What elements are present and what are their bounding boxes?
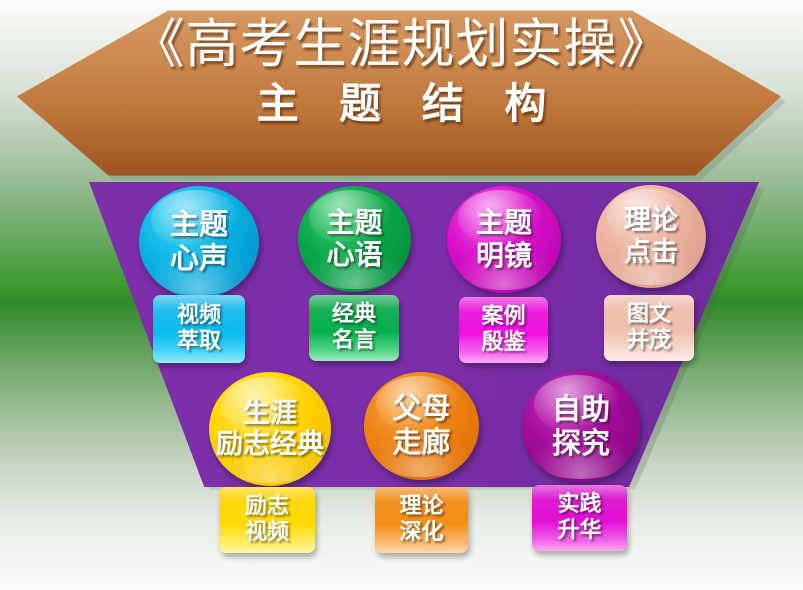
circle-label-line1: 父母 xyxy=(392,392,450,426)
chip-shipin-cuiqu[interactable]: 视频 萃取 xyxy=(153,295,245,363)
circle-label-line1: 主题 xyxy=(476,207,532,239)
circle-lilun-dianji[interactable]: 理论 点击 xyxy=(596,185,706,288)
chip-label-line2: 名言 xyxy=(332,328,376,354)
circle-zizhu-tanjiu[interactable]: 自助 探究 xyxy=(522,371,640,482)
title-banner-hexagon xyxy=(17,8,781,178)
chip-label-line1: 案例 xyxy=(481,304,525,330)
chip-label-line2: 殷鉴 xyxy=(481,330,525,356)
chip-label-line1: 经典 xyxy=(332,302,376,328)
circle-label-line2: 明镜 xyxy=(476,240,532,272)
circle-label-line2: 点击 xyxy=(624,237,678,268)
chip-label-line2: 深化 xyxy=(399,520,443,546)
chip-label-line1: 实践 xyxy=(557,492,601,518)
circle-label-line2: 励志经典 xyxy=(216,429,324,460)
chip-lilun-shenhua[interactable]: 理论 深化 xyxy=(375,487,468,553)
chip-label-line2: 视频 xyxy=(245,520,289,546)
slide-canvas: 《高考生涯规划实操》 主 题 结 构 主题 心声 视频 萃取 主题 心语 经典 … xyxy=(0,0,803,590)
circle-zhuti-xinsheng[interactable]: 主题 心声 xyxy=(139,186,259,298)
chip-label-line2: 萃取 xyxy=(177,329,221,355)
circle-label-line1: 生涯 xyxy=(243,398,297,429)
circle-label-line2: 探究 xyxy=(552,427,610,461)
chip-shijian-shenghua[interactable]: 实践 升华 xyxy=(532,485,627,551)
circle-shengya-lizhi-jingdian[interactable]: 生涯 励志经典 xyxy=(209,372,331,486)
circle-label-line1: 自助 xyxy=(552,393,610,427)
chip-tuwen-bingmao[interactable]: 图文 并茂 xyxy=(604,295,694,361)
chip-anli-yinjian[interactable]: 案例 殷鉴 xyxy=(459,297,548,363)
circle-label-line2: 心声 xyxy=(170,242,228,276)
chip-label-line2: 升华 xyxy=(557,518,601,544)
circle-zhuti-mingjing[interactable]: 主题 明镜 xyxy=(447,186,561,293)
circle-fumu-zoulang[interactable]: 父母 走廊 xyxy=(364,372,479,480)
chip-label-line1: 视频 xyxy=(177,303,221,329)
chip-label-line1: 理论 xyxy=(399,494,443,520)
circle-label-line2: 走廊 xyxy=(392,426,450,460)
circle-label-line1: 主题 xyxy=(170,208,228,242)
chip-lizhi-shipin[interactable]: 励志 视频 xyxy=(219,487,315,553)
chip-label-line1: 图文 xyxy=(627,302,671,328)
chip-label-line1: 励志 xyxy=(245,494,289,520)
chip-jingdian-mingyan[interactable]: 经典 名言 xyxy=(309,295,399,361)
chip-label-line2: 并茂 xyxy=(627,328,671,354)
circle-label-line1: 理论 xyxy=(624,205,678,236)
circle-zhuti-xinyu[interactable]: 主题 心语 xyxy=(298,186,411,292)
circle-label-line2: 心语 xyxy=(326,239,382,271)
circle-label-line1: 主题 xyxy=(326,207,382,239)
